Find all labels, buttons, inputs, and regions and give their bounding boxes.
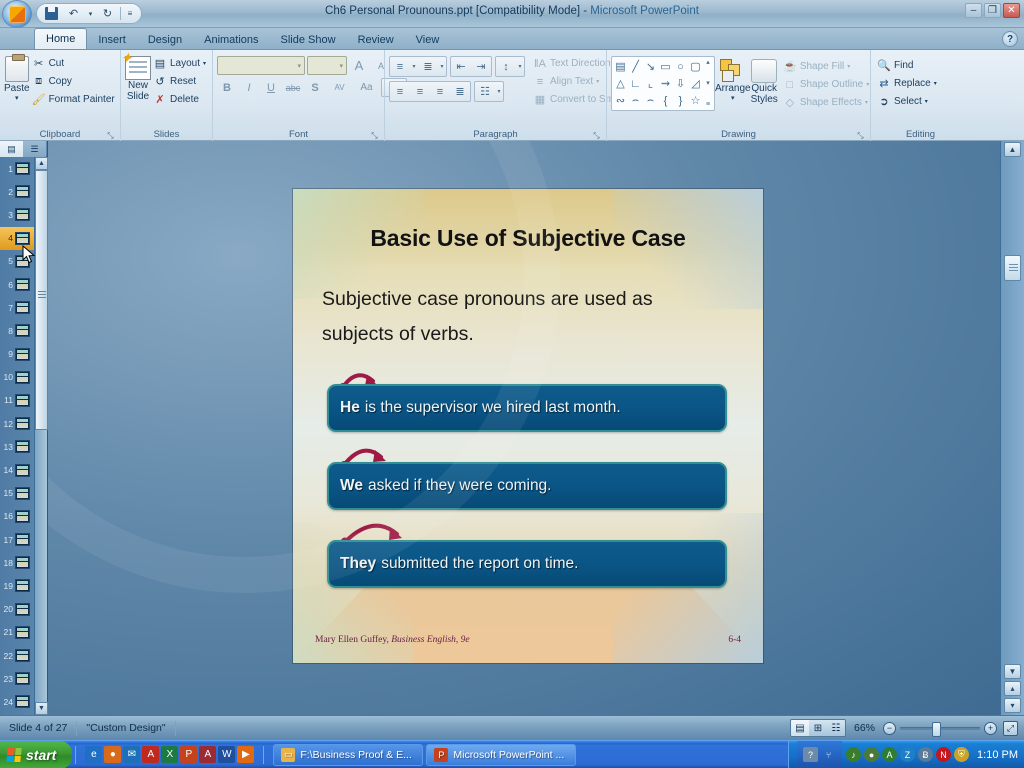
slide-scrollbar[interactable]: ▲ ▼ ▴ ▾ [1000, 141, 1024, 715]
list-buttons: ≡ ▾ ≣ ▾ [389, 56, 447, 77]
select-button[interactable]: ➲ Select ▾ [875, 93, 941, 110]
close-button[interactable]: ✕ [1003, 3, 1020, 18]
paragraph-dialog-launcher[interactable]: ⤡ [592, 131, 601, 140]
folder-icon: ▭ [281, 748, 295, 762]
chevron-down-icon: ▾ [15, 94, 19, 102]
slide-thumbnail-number: 8 [2, 326, 13, 336]
slides-tab[interactable]: ▤ [0, 141, 23, 157]
bold-button[interactable]: B [217, 78, 237, 97]
slide-title[interactable]: Basic Use of Subjective Case [293, 225, 763, 252]
tab-insert[interactable]: Insert [87, 30, 137, 49]
previous-slide-button[interactable]: ▴ [1004, 681, 1021, 696]
paste-button[interactable]: Paste ▾ [4, 53, 30, 102]
copy-label: Copy [49, 76, 72, 87]
shape-down-arrow-icon[interactable]: ⇩ [673, 75, 688, 92]
slide-thumbnail-12[interactable]: 12 [0, 412, 34, 435]
ribbon-group-drawing: ▤ ╱ ↘ ▭ ○ ▢ △ ∟ ⌞ ⇝ ⇩ ◿ ∾ ⌢ ⌢ [606, 50, 870, 141]
scroll-bottom-buttons: ▼ ▴ ▾ [1004, 663, 1021, 713]
shape-right-brace-icon[interactable]: } [673, 92, 688, 109]
paintbrush-icon: 🖌 [32, 93, 46, 106]
arrange-icon [720, 59, 746, 83]
effects-icon: ◇ [783, 96, 797, 109]
help-button[interactable]: ? [1002, 31, 1018, 47]
delete-icon: ✗ [153, 93, 167, 106]
pen-outline-icon: □ [783, 79, 797, 91]
slide-count-status: Slide 4 of 27 [0, 719, 76, 737]
slide-thumbnail-number: 6 [2, 280, 13, 290]
example-3-pronoun: They [340, 555, 376, 573]
cut-label: Cut [49, 58, 65, 69]
shape-arc-icon[interactable]: ⌢ [643, 92, 658, 109]
shape-curve-icon[interactable]: ⌢ [628, 92, 643, 109]
slide-thumbnail-image[interactable] [15, 464, 30, 477]
shape-fill-label: Shape Fill [800, 61, 844, 72]
tray-left-icons: ? ⑂ [797, 741, 842, 768]
slide-show-view-button[interactable]: ☷ [827, 720, 845, 736]
slide-thumbnail-image[interactable] [15, 348, 30, 361]
slide-subtitle[interactable]: Subjective case pronouns are used as sub… [322, 282, 722, 352]
firefox-icon[interactable]: ● [104, 746, 121, 763]
windows-flag-icon [6, 748, 21, 762]
minimize-button[interactable]: – [965, 3, 982, 18]
shapes-grid: ▤ ╱ ↘ ▭ ○ ▢ △ ∟ ⌞ ⇝ ⇩ ◿ ∾ ⌢ ⌢ [613, 58, 703, 109]
line-spacing-button[interactable]: ↕ [496, 57, 516, 76]
reset-button[interactable]: ↺ Reset [151, 73, 210, 90]
slide-thumbnail-image[interactable] [15, 232, 30, 245]
slide-thumbnail-number: 20 [2, 604, 13, 614]
updates-tray-icon[interactable]: A [882, 747, 897, 762]
shape-format-commands: ☕ Shape Fill ▾ □ Shape Outline ▾ ◇ Shape… [781, 56, 873, 111]
access-icon[interactable]: A [199, 746, 216, 763]
slide-thumbnail-16[interactable]: 16 [0, 505, 34, 528]
shapes-gallery[interactable]: ▤ ╱ ↘ ▭ ○ ▢ △ ∟ ⌞ ⇝ ⇩ ◿ ∾ ⌢ ⌢ [611, 56, 715, 111]
taskbar-button-1[interactable]: ▭F:\Business Proof & E... [273, 744, 423, 766]
slide-thumbnail-image[interactable] [15, 695, 30, 708]
slide-thumbnail-image[interactable] [15, 208, 30, 221]
start-label: start [26, 747, 56, 763]
windows-taskbar: start e●✉AXPAW▶ ▭F:\Business Proof & E..… [0, 740, 1024, 768]
gallery-scroll-down-icon[interactable]: ▾ [703, 80, 713, 87]
word-icon[interactable]: W [218, 746, 235, 763]
increase-indent-button[interactable]: ⇥ [471, 57, 491, 76]
replace-icon: ⇄ [877, 77, 891, 90]
slide-thumbnail-13[interactable]: 13 [0, 435, 34, 458]
window-title-document: Ch6 Personal Prounouns.ppt [Compatibilit… [325, 5, 587, 17]
network-tray-icon[interactable]: ⑂ [821, 747, 836, 762]
reset-label: Reset [170, 76, 196, 87]
scroll-up-button[interactable]: ▲ [1004, 142, 1021, 157]
system-tray: ? ⑂ ♪●AZɃN⛨ 1:10 PM [788, 741, 1024, 768]
clipboard-commands: ✂ Cut ⧈ Copy 🖌 Format Painter [30, 53, 119, 108]
excel-icon[interactable]: X [161, 746, 178, 763]
new-slide-label-1: New [128, 80, 148, 91]
chevron-down-icon: ▾ [865, 99, 868, 106]
view-buttons: ▤ ⊞ ☷ [790, 719, 846, 737]
slide-thumbnail-image[interactable] [15, 394, 30, 407]
slide-thumbnail-17[interactable]: 17 [0, 528, 34, 551]
tab-animations[interactable]: Animations [193, 30, 269, 49]
slide-thumbnail-22[interactable]: 22 [0, 644, 34, 667]
example-2-pronoun: We [340, 477, 363, 495]
slide-thumbnail-8[interactable]: 8 [0, 319, 34, 342]
arrange-button[interactable]: Arrange ▾ [715, 56, 751, 102]
align-right-button[interactable]: ≡ [430, 82, 450, 101]
slide-editing-area[interactable]: Basic Use of Subjective Case Subjective … [48, 141, 1000, 715]
ribbon-group-editing: 🔍 Find ⇄ Replace ▾ ➲ Select ▾ Editing [870, 50, 970, 141]
slide-thumbnail-number: 15 [2, 488, 13, 498]
slide-thumbnail-image[interactable] [15, 371, 30, 384]
bullets-dropdown[interactable]: ▾ [410, 57, 418, 76]
slide-thumbnail-10[interactable]: 10 [0, 366, 34, 389]
next-slide-button[interactable]: ▾ [1004, 698, 1021, 713]
security-tray-icon[interactable]: ⛨ [954, 747, 969, 762]
drawing-dialog-launcher[interactable]: ⤡ [856, 131, 865, 140]
drawing-label-text: Drawing [721, 129, 756, 140]
new-slide-button[interactable]: ✦ New Slide [125, 53, 151, 102]
footer-book-title: Business English, 9e [391, 635, 469, 645]
line-spacing-group: ↕ ▾ [495, 56, 525, 77]
zone-alarm-tray-icon[interactable]: Z [900, 747, 915, 762]
shape-outline-button[interactable]: □ Shape Outline ▾ [781, 76, 873, 93]
replace-button[interactable]: ⇄ Replace ▾ [875, 75, 941, 92]
paragraph-group-label: Paragraph ⤡ [389, 128, 602, 141]
slide-thumbnail-image[interactable] [15, 301, 30, 314]
tab-review[interactable]: Review [347, 30, 405, 49]
paste-icon [5, 56, 29, 82]
grow-font-button[interactable]: A [349, 56, 369, 75]
ribbon-group-font: ▾ ▾ A A ⌫ B I U abc S AV [212, 50, 384, 141]
slide-thumbnail-9[interactable]: 9 [0, 343, 34, 366]
paragraph-label-text: Paragraph [473, 129, 517, 140]
slide-thumbnail-image[interactable] [15, 603, 30, 616]
taskbar-button-2[interactable]: PMicrosoft PowerPoint ... [426, 744, 576, 766]
editing-group-label: Editing [875, 128, 966, 141]
window-title-app: Microsoft PowerPoint [587, 5, 699, 17]
slide-thumbnail-6[interactable]: 6 [0, 273, 34, 296]
slide-thumbnail-20[interactable]: 20 [0, 598, 34, 621]
slide-thumbnail-19[interactable]: 19 [0, 574, 34, 597]
slide-thumbnail-number: 16 [2, 511, 13, 521]
slide-thumbnail-number: 13 [2, 442, 13, 452]
slide-thumbnail-image[interactable] [15, 533, 30, 546]
numbering-dropdown[interactable]: ▾ [438, 57, 446, 76]
help-tray-icon[interactable]: ? [803, 747, 818, 762]
slide-thumbnail-number: 10 [2, 372, 13, 382]
slide-thumbnail-image[interactable] [15, 649, 30, 662]
normal-view-button[interactable]: ▤ [791, 720, 809, 736]
slide-thumbnail-image[interactable] [15, 440, 30, 453]
tab-view[interactable]: View [405, 30, 451, 49]
align-text-icon: ≡ [533, 76, 547, 88]
shapes-gallery-scroll: ▴ ▾ ≡ [703, 58, 713, 109]
text-direction-label: Text Direction [550, 58, 611, 69]
find-button[interactable]: 🔍 Find [875, 57, 941, 74]
status-right-cluster: ▤ ⊞ ☷ 66% − + ⤢ [790, 719, 1024, 737]
gallery-more-menu-icon[interactable]: ≡ [703, 101, 713, 108]
panel-scroll-down-button[interactable]: ▼ [35, 702, 48, 715]
bullets-button[interactable]: ≡ [390, 57, 410, 76]
smartart-icon: ▦ [533, 93, 547, 106]
quick-styles-button[interactable]: Quick Styles [751, 56, 778, 105]
slide-canvas[interactable]: Basic Use of Subjective Case Subjective … [293, 189, 763, 663]
new-slide-label-2: Slide [127, 91, 149, 102]
slide-thumbnail-image[interactable] [15, 626, 30, 639]
slide-thumbnail-number: 5 [2, 256, 13, 266]
slide-thumbnail-18[interactable]: 18 [0, 551, 34, 574]
binoculars-icon: 🔍 [877, 59, 891, 72]
format-painter-button[interactable]: 🖌 Format Painter [30, 91, 119, 108]
grip-lines-icon [38, 291, 46, 298]
zoom-in-button[interactable]: + [984, 722, 997, 735]
editing-commands: 🔍 Find ⇄ Replace ▾ ➲ Select ▾ [875, 53, 941, 110]
powerpoint-icon[interactable]: P [180, 746, 197, 763]
slide-thumbnail-23[interactable]: 23 [0, 667, 34, 690]
select-label: Select [894, 96, 922, 107]
underline-icon: U [267, 82, 275, 94]
quick-styles-label-2: Styles [751, 94, 778, 105]
columns-dropdown[interactable]: ▾ [495, 82, 503, 101]
quick-styles-icon [751, 59, 777, 83]
paste-label: Paste [4, 83, 30, 94]
arrange-label: Arrange [715, 83, 751, 94]
zoom-control: − + [883, 722, 997, 735]
shape-star-icon[interactable]: ☆ [688, 92, 703, 109]
alignment-buttons: ≡ ≡ ≡ ≣ [389, 81, 471, 102]
slide-footer-credit: Mary Ellen Guffey, Business English, 9e [315, 635, 470, 645]
slide-thumbnail-image[interactable] [15, 487, 30, 500]
slide-thumbnail-21[interactable]: 21 [0, 621, 34, 644]
quick-launch-bar: e●✉AXPAW▶ [79, 746, 260, 763]
footer-author: Mary Ellen Guffey, [315, 635, 389, 645]
panel-scrollbar[interactable]: ▲ ▼ [34, 157, 47, 715]
slide-thumbnail-number: 9 [2, 349, 13, 359]
slide-thumbnail-image[interactable] [15, 579, 30, 592]
chevron-down-icon: ▾ [847, 63, 850, 70]
example-2-text: asked if they were coming. [368, 477, 552, 495]
task-buttons: ▭F:\Business Proof & E...PMicrosoft Powe… [267, 744, 579, 766]
chevron-down-icon: ▾ [297, 62, 301, 70]
chevron-down-icon: ▾ [339, 62, 343, 70]
slide-footer-number: 6-4 [728, 635, 741, 645]
slide-thumbnail-11[interactable]: 11 [0, 389, 34, 412]
slide-thumbnail-number: 17 [2, 535, 13, 545]
panel-scroll-up-button[interactable]: ▲ [35, 157, 48, 170]
taskbar-divider [75, 746, 76, 764]
shape-fill-button[interactable]: ☕ Shape Fill ▾ [781, 58, 873, 75]
internet-explorer-icon[interactable]: e [85, 746, 102, 763]
chevron-down-icon: ▾ [934, 80, 937, 87]
taskbar-button-label: F:\Business Proof & E... [300, 749, 411, 761]
delete-label: Delete [170, 94, 199, 105]
shape-elbow-connector-icon[interactable]: ∟ [628, 75, 643, 92]
chevron-down-icon: ▾ [925, 98, 928, 105]
outlook-icon[interactable]: ✉ [123, 746, 140, 763]
media-player-icon[interactable]: ▶ [237, 746, 254, 763]
panel-scroll-thumb[interactable] [35, 170, 48, 430]
layout-label: Layout [170, 58, 200, 69]
font-name-combo[interactable]: ▾ [217, 56, 305, 75]
slide-thumbnail-image[interactable] [15, 255, 30, 268]
window-controls: – ❐ ✕ [965, 3, 1020, 18]
shape-rectangle-icon[interactable]: ▭ [658, 58, 673, 75]
taskbar-button-label: Microsoft PowerPoint ... [453, 749, 564, 761]
example-1-text: is the supervisor we hired last month. [365, 399, 621, 417]
text-shadow-icon: S [311, 82, 318, 94]
example-box-2[interactable]: We asked if they were coming. [327, 462, 727, 510]
start-button[interactable]: start [0, 741, 72, 768]
align-center-button[interactable]: ≡ [410, 82, 430, 101]
example-1-pronoun: He [340, 399, 360, 417]
slide-thumbnail-image[interactable] [15, 324, 30, 337]
format-painter-label: Format Painter [49, 94, 115, 105]
character-spacing-button[interactable]: AV [327, 78, 352, 97]
tab-slide-show[interactable]: Slide Show [270, 30, 347, 49]
layout-button[interactable]: ▤ Layout ▾ [151, 55, 210, 72]
font-dialog-launcher[interactable]: ⤡ [370, 131, 379, 140]
clipboard-label-text: Clipboard [40, 129, 81, 140]
antivirus-tray-icon[interactable]: ● [864, 747, 879, 762]
quick-styles-label-1: Quick [751, 83, 777, 94]
shape-outline-label: Shape Outline [800, 79, 863, 90]
decrease-indent-button[interactable]: ⇤ [451, 57, 471, 76]
shape-oval-icon[interactable]: ○ [673, 58, 688, 75]
shape-right-arrow-icon[interactable]: ⇝ [658, 75, 673, 92]
slide-thumbnail-3[interactable]: 3 [0, 203, 34, 226]
slide-thumbnail-14[interactable]: 14 [0, 458, 34, 481]
slide-thumbnail-number: 18 [2, 558, 13, 568]
slide-thumbnail-image[interactable] [15, 278, 30, 291]
shape-textbox-icon[interactable]: ▤ [613, 58, 628, 75]
ribbon-group-clipboard: Paste ▾ ✂ Cut ⧈ Copy 🖌 Format Painter [0, 50, 120, 141]
align-left-button[interactable]: ≡ [390, 82, 410, 101]
arc-annotation-3 [337, 516, 409, 546]
gallery-scroll-up-icon[interactable]: ▴ [703, 59, 713, 66]
ribbon-group-slides: ✦ New Slide ▤ Layout ▾ ↺ Reset ✗ [120, 50, 212, 141]
clipboard-dialog-launcher[interactable]: ⤡ [106, 131, 115, 140]
acrobat-icon[interactable]: A [142, 746, 159, 763]
slide-thumbnail-image[interactable] [15, 162, 30, 175]
tab-home[interactable]: Home [34, 28, 87, 49]
change-case-icon: Aa [360, 82, 372, 93]
shape-line-icon[interactable]: ╱ [628, 58, 643, 75]
change-case-button[interactable]: Aa [354, 78, 379, 97]
copy-button[interactable]: ⧈ Copy [30, 73, 119, 90]
slide-thumbnail-image[interactable] [15, 185, 30, 198]
slide-sorter-view-button[interactable]: ⊞ [809, 720, 827, 736]
zoom-out-button[interactable]: − [883, 722, 896, 735]
zoom-slider-track[interactable] [900, 727, 980, 730]
slide-thumbnail-5[interactable]: 5 [0, 250, 34, 273]
shape-triangle-icon[interactable]: △ [613, 75, 628, 92]
chevron-down-icon: ▾ [731, 94, 735, 102]
underline-button[interactable]: U [261, 78, 281, 97]
line-spacing-dropdown[interactable]: ▾ [516, 57, 524, 76]
font-label-text: Font [289, 129, 308, 140]
char-spacing-icon: AV [334, 83, 344, 92]
shape-effects-button[interactable]: ◇ Shape Effects ▾ [781, 94, 873, 111]
italic-button[interactable]: I [239, 78, 259, 97]
slides-group-label: Slides [125, 128, 208, 141]
justify-button[interactable]: ≣ [450, 82, 470, 101]
cursor-select-icon: ➲ [877, 95, 891, 108]
layout-icon: ▤ [153, 57, 167, 70]
slide-thumbnail-7[interactable]: 7 [0, 296, 34, 319]
slide-thumbnail-number: 19 [2, 581, 13, 591]
norton-tray-icon[interactable]: N [936, 747, 951, 762]
outline-tab[interactable]: ☰ [23, 141, 46, 157]
shape-elbow-arrow-icon[interactable]: ⌞ [643, 75, 658, 92]
slide-thumbnail-image[interactable] [15, 556, 30, 569]
slide-thumbnail-number: 14 [2, 465, 13, 475]
maximize-button[interactable]: ❐ [984, 3, 1001, 18]
bluetooth-tray-icon[interactable]: Ƀ [918, 747, 933, 762]
theme-status: "Custom Design" [77, 719, 174, 737]
drawing-group-label: Drawing ⤡ [611, 128, 866, 141]
slide-thumbnail-1[interactable]: 1 [0, 157, 34, 180]
example-box-3[interactable]: They submitted the report on time. [327, 540, 727, 588]
arc-annotation-1 [337, 365, 383, 391]
slide-thumbnail-image[interactable] [15, 417, 30, 430]
strikethrough-button[interactable]: abc [283, 78, 303, 97]
zoom-slider-handle[interactable] [932, 722, 941, 737]
tab-design[interactable]: Design [137, 30, 193, 49]
text-shadow-button[interactable]: S [305, 78, 325, 97]
slide-thumbnail-number: 3 [2, 210, 13, 220]
chevron-down-icon: ▾ [866, 81, 869, 88]
bold-icon: B [223, 82, 231, 94]
scroll-down-button[interactable]: ▼ [1004, 664, 1021, 679]
thumbnail-list[interactable]: 123456789101112131415161718192021222324 [0, 157, 34, 715]
slide-thumbnail-image[interactable] [15, 672, 30, 685]
chevron-down-icon: ▾ [596, 78, 599, 85]
slide-thumbnail-number: 23 [2, 674, 13, 684]
font-size-combo[interactable]: ▾ [307, 56, 347, 75]
slide-thumbnail-15[interactable]: 15 [0, 482, 34, 505]
arc-annotation-2 [337, 441, 393, 469]
clock[interactable]: 1:10 PM [973, 749, 1018, 761]
cut-button[interactable]: ✂ Cut [30, 55, 119, 72]
shape-left-brace-icon[interactable]: { [658, 92, 673, 109]
scissors-icon: ✂ [32, 57, 46, 70]
delete-slide-button[interactable]: ✗ Delete [151, 91, 210, 108]
font-row-bottom: B I U abc S AV Aa A [217, 78, 407, 97]
slide-thumbnail-24[interactable]: 24 [0, 690, 34, 713]
tray-icon-group: ♪●AZɃN⛨ [846, 747, 969, 762]
status-bar: Slide 4 of 27 "Custom Design" ▤ ⊞ ☷ 66% … [0, 715, 1024, 740]
scroll-track[interactable] [1004, 159, 1021, 657]
slide-thumbnail-4[interactable]: 4 [0, 227, 34, 250]
scroll-thumb[interactable] [1004, 255, 1021, 281]
shape-arrow-icon[interactable]: ↘ [643, 58, 658, 75]
ribbon: Paste ▾ ✂ Cut ⧈ Copy 🖌 Format Painter [0, 50, 1024, 141]
example-box-1[interactable]: He is the supervisor we hired last month… [327, 384, 727, 432]
numbering-button[interactable]: ≣ [418, 57, 438, 76]
reset-icon: ↺ [153, 75, 167, 88]
ribbon-tabs: Home Insert Design Animations Slide Show… [0, 28, 1024, 50]
example-3-text: submitted the report on time. [381, 555, 578, 573]
columns-button[interactable]: ☷ [475, 82, 495, 101]
slide-thumbnail-image[interactable] [15, 510, 30, 523]
shape-rounded-rect-icon[interactable]: ▢ [688, 58, 703, 75]
shape-pentagon-icon[interactable]: ◿ [688, 75, 703, 92]
chevron-down-icon: ▾ [203, 60, 206, 67]
slide-thumbnail-2[interactable]: 2 [0, 180, 34, 203]
grow-font-icon: A [355, 58, 364, 73]
slide-thumbnail-number: 7 [2, 303, 13, 313]
fit-slide-to-window-button[interactable]: ⤢ [1003, 721, 1018, 736]
shape-freeform-icon[interactable]: ∾ [613, 92, 628, 109]
sound-tray-icon[interactable]: ♪ [846, 747, 861, 762]
